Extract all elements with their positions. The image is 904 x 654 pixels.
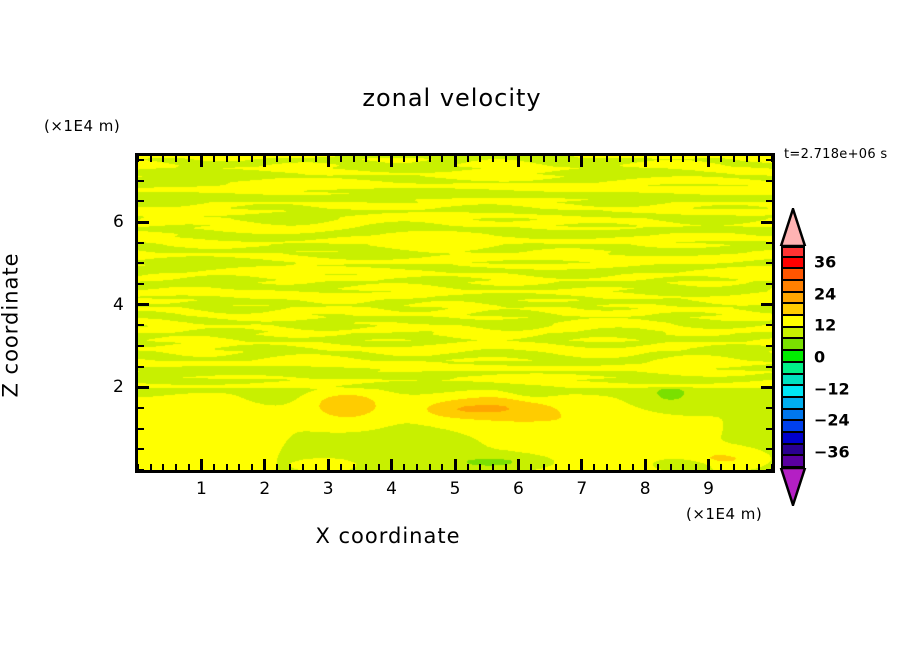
x-major-tick — [517, 459, 520, 470]
x-major-tick-top — [454, 156, 457, 167]
colorbar-tick-label: −12 — [814, 379, 850, 398]
y-tick-label: 4 — [113, 295, 124, 315]
y-minor-tick-right — [766, 262, 772, 264]
x-minor-tick — [505, 464, 507, 470]
x-major-tick — [644, 459, 647, 470]
y-major-tick-right — [761, 221, 772, 224]
x-tick-label: 5 — [450, 479, 461, 499]
colorbar-tick-label: 24 — [814, 284, 836, 303]
colorbar-band — [781, 375, 805, 387]
x-major-tick — [390, 459, 393, 470]
x-minor-tick-top — [302, 156, 304, 162]
y-minor-tick — [138, 448, 144, 450]
page-title: zonal velocity — [0, 84, 904, 112]
x-minor-tick-top — [213, 156, 215, 162]
x-minor-tick-top — [720, 156, 722, 162]
x-minor-tick — [188, 464, 190, 470]
y-axis-title: Z coordinate — [0, 252, 23, 397]
x-minor-tick-top — [378, 156, 380, 162]
colorbar-band — [781, 281, 805, 293]
y-minor-tick — [138, 180, 144, 182]
y-minor-tick-right — [766, 242, 772, 244]
x-tick-label: 9 — [703, 479, 714, 499]
x-minor-tick-top — [682, 156, 684, 162]
x-minor-tick — [403, 464, 405, 470]
x-tick-label: 6 — [513, 479, 524, 499]
x-minor-tick — [758, 464, 760, 470]
x-tick-label: 4 — [386, 479, 397, 499]
y-minor-tick — [138, 407, 144, 409]
x-minor-tick-top — [340, 156, 342, 162]
y-tick-label: 6 — [113, 212, 124, 232]
x-minor-tick-top — [695, 156, 697, 162]
x-minor-tick-top — [226, 156, 228, 162]
x-major-tick — [327, 459, 330, 470]
y-minor-tick — [138, 366, 144, 368]
x-tick-label: 7 — [576, 479, 587, 499]
y-minor-tick-right — [766, 366, 772, 368]
colorbar-band — [781, 456, 805, 468]
x-major-tick-top — [390, 156, 393, 167]
y-minor-tick — [138, 469, 144, 471]
x-minor-tick-top — [619, 156, 621, 162]
x-minor-tick-top — [479, 156, 481, 162]
x-minor-tick — [543, 464, 545, 470]
x-minor-tick-top — [251, 156, 253, 162]
x-minor-tick-top — [175, 156, 177, 162]
y-minor-tick-right — [766, 283, 772, 285]
x-major-tick — [454, 459, 457, 470]
x-axis-title: X coordinate — [0, 524, 776, 548]
x-major-tick-top — [263, 156, 266, 167]
x-major-tick — [200, 459, 203, 470]
colorbar-band — [781, 328, 805, 340]
y-major-tick-right — [761, 303, 772, 306]
colorbar-band — [781, 445, 805, 457]
x-minor-tick-top — [746, 156, 748, 162]
y-minor-tick — [138, 283, 144, 285]
x-minor-tick-top — [657, 156, 659, 162]
x-minor-tick-top — [632, 156, 634, 162]
colorbar-band — [781, 246, 805, 258]
colorbar-tick-label: 0 — [814, 348, 825, 367]
x-minor-tick-top — [238, 156, 240, 162]
colorbar: 3624120−12−24−36 — [778, 196, 808, 518]
y-minor-tick-right — [766, 469, 772, 471]
y-major-tick — [138, 303, 149, 306]
x-minor-tick-top — [733, 156, 735, 162]
y-minor-tick — [138, 345, 144, 347]
x-minor-tick-top — [188, 156, 190, 162]
x-minor-tick — [238, 464, 240, 470]
x-major-tick-top — [644, 156, 647, 167]
y-major-tick — [138, 386, 149, 389]
colorbar-band — [781, 293, 805, 305]
colorbar-band — [781, 304, 805, 316]
x-minor-tick-top — [416, 156, 418, 162]
colorbar-tick-label: −36 — [814, 443, 850, 462]
colorbar-tick-label: 12 — [814, 316, 836, 335]
x-minor-tick — [657, 464, 659, 470]
x-minor-tick — [593, 464, 595, 470]
x-minor-tick-top — [606, 156, 608, 162]
x-minor-tick — [378, 464, 380, 470]
colorbar-band — [781, 269, 805, 281]
x-minor-tick-top — [758, 156, 760, 162]
y-minor-tick-right — [766, 324, 772, 326]
y-minor-tick — [138, 262, 144, 264]
y-minor-tick-right — [766, 428, 772, 430]
contour-plot-area — [135, 153, 775, 473]
y-minor-tick-right — [766, 180, 772, 182]
colorbar-tick-label: −24 — [814, 411, 850, 430]
y-minor-tick — [138, 242, 144, 244]
x-minor-tick — [175, 464, 177, 470]
x-minor-tick — [682, 464, 684, 470]
x-minor-tick-top — [467, 156, 469, 162]
x-major-tick-top — [517, 156, 520, 167]
x-minor-tick-top — [441, 156, 443, 162]
x-minor-tick — [632, 464, 634, 470]
x-minor-tick — [670, 464, 672, 470]
y-major-tick-right — [761, 386, 772, 389]
x-major-tick-top — [200, 156, 203, 167]
y-tick-label: 2 — [113, 377, 124, 397]
x-minor-tick — [162, 464, 164, 470]
x-minor-tick — [226, 464, 228, 470]
colorbar-band — [781, 363, 805, 375]
x-tick-label: 8 — [640, 479, 651, 499]
x-minor-tick-top — [276, 156, 278, 162]
x-minor-tick-top — [568, 156, 570, 162]
x-minor-tick — [289, 464, 291, 470]
x-minor-tick-top — [505, 156, 507, 162]
x-major-tick — [580, 459, 583, 470]
colorbar-over-arrow — [778, 208, 808, 246]
x-minor-tick — [467, 464, 469, 470]
y-axis-unit-label: (×1E4 m) — [44, 117, 120, 135]
x-major-tick — [263, 459, 266, 470]
x-major-tick-top — [327, 156, 330, 167]
x-major-tick-top — [707, 156, 710, 167]
x-minor-tick — [720, 464, 722, 470]
colorbar-band — [781, 351, 805, 363]
x-minor-tick — [251, 464, 253, 470]
x-minor-tick-top — [530, 156, 532, 162]
x-tick-label: 2 — [259, 479, 270, 499]
colorbar-band — [781, 421, 805, 433]
x-minor-tick — [353, 464, 355, 470]
x-minor-tick — [568, 464, 570, 470]
x-axis-unit-label: (×1E4 m) — [686, 505, 762, 523]
x-minor-tick — [416, 464, 418, 470]
y-minor-tick-right — [766, 345, 772, 347]
y-minor-tick — [138, 200, 144, 202]
x-minor-tick — [479, 464, 481, 470]
x-minor-tick — [530, 464, 532, 470]
y-minor-tick — [138, 159, 144, 161]
timestamp-annotation: t=2.718e+06 s — [784, 147, 887, 162]
x-minor-tick — [555, 464, 557, 470]
x-minor-tick-top — [365, 156, 367, 162]
x-minor-tick — [619, 464, 621, 470]
x-minor-tick — [733, 464, 735, 470]
x-minor-tick-top — [593, 156, 595, 162]
y-minor-tick-right — [766, 200, 772, 202]
x-minor-tick — [441, 464, 443, 470]
x-minor-tick-top — [162, 156, 164, 162]
y-minor-tick — [138, 324, 144, 326]
colorbar-under-arrow — [778, 468, 808, 506]
x-minor-tick — [302, 464, 304, 470]
x-minor-tick-top — [670, 156, 672, 162]
x-minor-tick — [429, 464, 431, 470]
y-minor-tick-right — [766, 407, 772, 409]
x-minor-tick — [695, 464, 697, 470]
x-tick-label: 3 — [323, 479, 334, 499]
y-minor-tick-right — [766, 448, 772, 450]
colorbar-band — [781, 433, 805, 445]
x-minor-tick — [606, 464, 608, 470]
x-minor-tick — [746, 464, 748, 470]
x-minor-tick-top — [429, 156, 431, 162]
x-minor-tick-top — [353, 156, 355, 162]
y-major-tick — [138, 221, 149, 224]
x-minor-tick — [340, 464, 342, 470]
colorbar-band — [781, 410, 805, 422]
x-major-tick-top — [580, 156, 583, 167]
colorbar-band — [781, 258, 805, 270]
x-minor-tick-top — [492, 156, 494, 162]
x-minor-tick-top — [543, 156, 545, 162]
y-minor-tick — [138, 428, 144, 430]
x-minor-tick-top — [403, 156, 405, 162]
colorbar-band — [781, 386, 805, 398]
x-minor-tick — [213, 464, 215, 470]
colorbar-tick-label: 36 — [814, 252, 836, 271]
colorbar-band — [781, 339, 805, 351]
x-minor-tick-top — [315, 156, 317, 162]
x-major-tick — [707, 459, 710, 470]
x-minor-tick — [315, 464, 317, 470]
x-minor-tick-top — [555, 156, 557, 162]
contour-field-canvas — [138, 156, 772, 470]
x-minor-tick — [365, 464, 367, 470]
x-minor-tick-top — [150, 156, 152, 162]
y-minor-tick-right — [766, 159, 772, 161]
x-tick-label: 1 — [196, 479, 207, 499]
x-minor-tick — [276, 464, 278, 470]
x-minor-tick — [150, 464, 152, 470]
x-minor-tick-top — [289, 156, 291, 162]
colorbar-band — [781, 316, 805, 328]
colorbar-band — [781, 398, 805, 410]
x-minor-tick — [492, 464, 494, 470]
